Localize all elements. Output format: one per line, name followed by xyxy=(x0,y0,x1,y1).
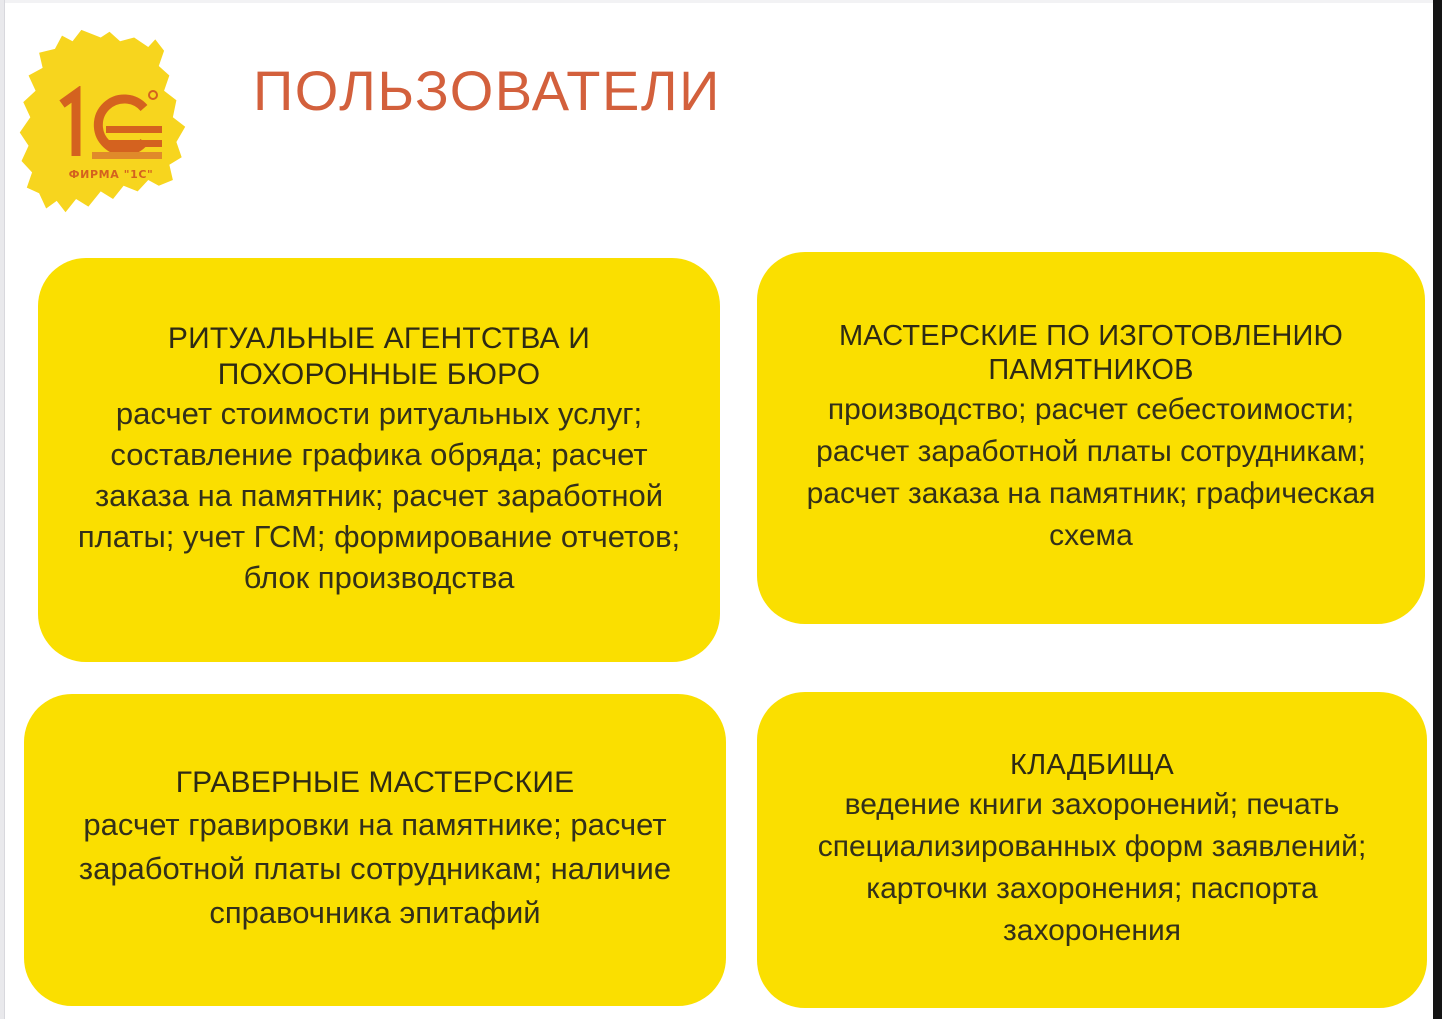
card-title: РИТУАЛЬНЫЕ АГЕНТСТВА И ПОХОРОННЫЕ БЮРО xyxy=(62,321,696,392)
card-cemeteries[interactable]: КЛАДБИЩА ведение книги захоронений; печа… xyxy=(757,692,1427,1008)
card-body: производство; расчет себестоимости; расч… xyxy=(781,389,1401,557)
slide-canvas: ФИРМА "1С" ПОЛЬЗОВАТЕЛИ РИТУАЛЬНЫЕ АГЕНТ… xyxy=(0,0,1442,1019)
card-title: ГРАВЕРНЫЕ МАСТЕРСКИЕ xyxy=(176,765,575,800)
card-title: МАСТЕРСКИЕ ПО ИЗГОТОВЛЕНИЮ ПАМЯТНИКОВ xyxy=(781,319,1401,387)
card-body: расчет гравировки на памятнике; расчет з… xyxy=(48,803,702,935)
card-body: ведение книги захоронений; печать специа… xyxy=(781,784,1403,952)
card-ritual-agencies[interactable]: РИТУАЛЬНЫЕ АГЕНТСТВА И ПОХОРОННЫЕ БЮРО р… xyxy=(38,258,720,662)
card-body: расчет стоимости ритуальных услуг; соста… xyxy=(62,394,696,599)
card-grid: РИТУАЛЬНЫЕ АГЕНТСТВА И ПОХОРОННЫЕ БЮРО р… xyxy=(0,0,1442,1019)
card-monument-workshops[interactable]: МАСТЕРСКИЕ ПО ИЗГОТОВЛЕНИЮ ПАМЯТНИКОВ пр… xyxy=(757,252,1425,624)
card-title: КЛАДБИЩА xyxy=(1010,748,1174,782)
card-engraving-workshops[interactable]: ГРАВЕРНЫЕ МАСТЕРСКИЕ расчет гравировки н… xyxy=(24,694,726,1006)
